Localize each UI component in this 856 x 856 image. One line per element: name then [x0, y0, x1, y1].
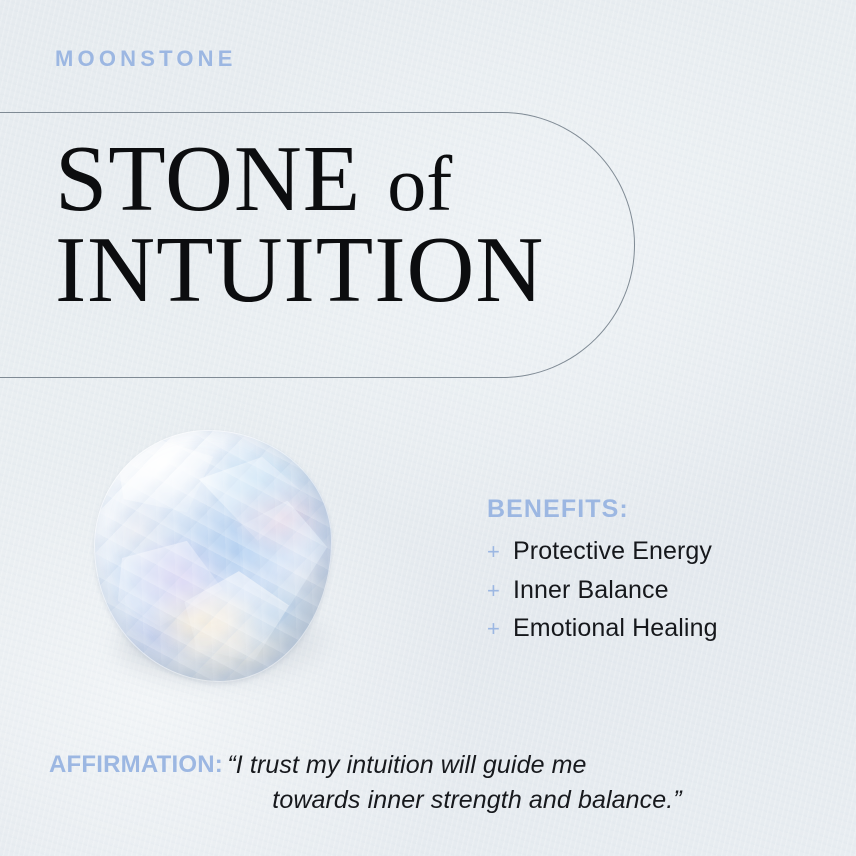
plus-icon: +: [487, 538, 501, 567]
title-line-2: INTUITION: [55, 225, 615, 316]
affirmation-line-2: towards inner strength and balance.”: [135, 783, 819, 818]
affirmation-block: AFFIRMATION: “I trust my intuition will …: [49, 748, 819, 817]
benefit-item: + Protective Energy: [487, 535, 817, 568]
benefit-item: + Emotional Healing: [487, 612, 817, 645]
page-title: STONEof INTUITION: [55, 134, 615, 316]
title-line-1: STONEof: [55, 134, 615, 225]
kicker-label: MOONSTONE: [55, 48, 237, 70]
plus-icon: +: [487, 615, 501, 644]
benefit-label: Inner Balance: [513, 574, 669, 607]
benefit-label: Emotional Healing: [513, 612, 718, 645]
stone-body: [94, 430, 332, 682]
affirmation-label: AFFIRMATION:: [49, 751, 223, 778]
benefit-item: + Inner Balance: [487, 574, 817, 607]
affirmation-section: AFFIRMATION: “I trust my intuition will …: [49, 748, 819, 817]
title-word-of: of: [387, 140, 452, 227]
affirmation-line-1: “I trust my intuition will guide me: [227, 751, 586, 779]
title-word-stone: STONE: [55, 127, 361, 231]
benefits-heading: BENEFITS:: [487, 497, 817, 522]
moonstone-image: [72, 412, 372, 712]
benefits-section: BENEFITS: + Protective Energy + Inner Ba…: [487, 497, 817, 651]
moonstone-infographic-card: MOONSTONE STONEof INTUITION BENEFITS: + …: [0, 0, 856, 856]
benefit-label: Protective Energy: [513, 535, 712, 568]
plus-icon: +: [487, 577, 501, 606]
